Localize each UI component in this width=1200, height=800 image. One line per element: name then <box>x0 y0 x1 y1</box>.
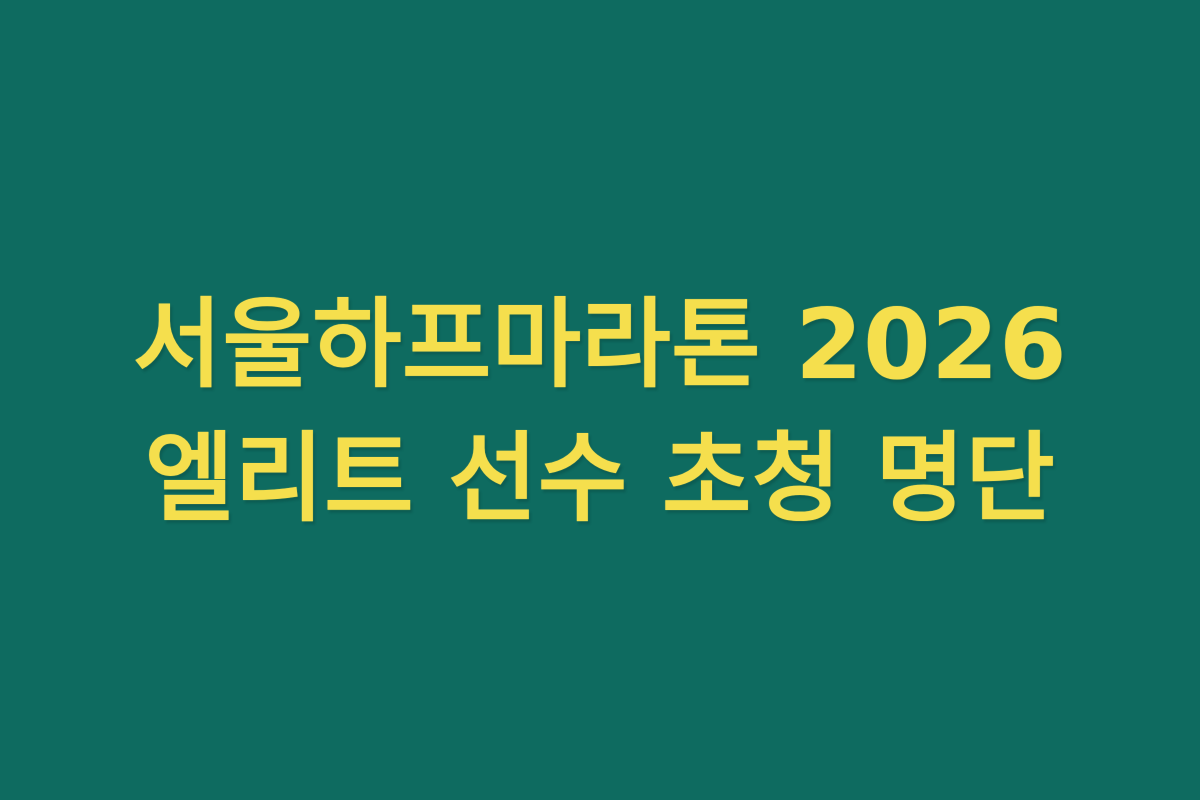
headline-line-secondary: 엘리트 선수 초청 명단 <box>0 412 1200 546</box>
headline-block: 서울하프마라톤 2026 엘리트 선수 초청 명단 <box>0 278 1200 546</box>
headline-line-primary: 서울하프마라톤 2026 <box>0 278 1200 412</box>
banner-canvas: 서울하프마라톤 2026 엘리트 선수 초청 명단 <box>0 0 1200 800</box>
